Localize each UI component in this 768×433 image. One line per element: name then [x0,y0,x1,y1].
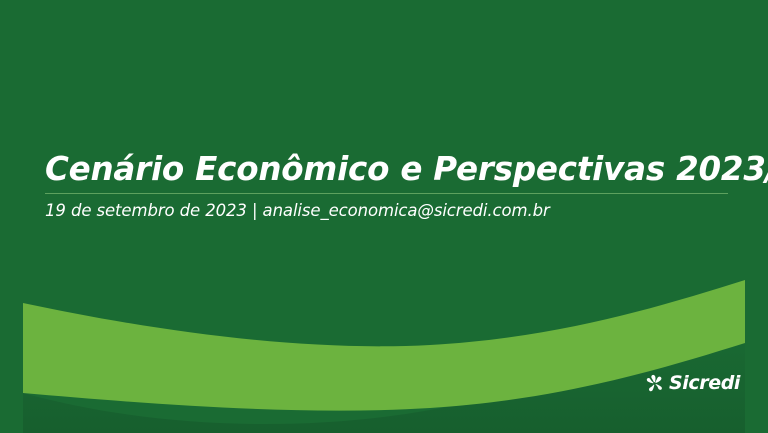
sicredi-logo: Sicredi [645,374,740,393]
title-slide: Cenário Econômico e Perspectivas 2023/24… [0,0,768,433]
wave-ribbon-shape [23,280,745,411]
page-title: Cenário Econômico e Perspectivas 2023/24 [45,152,735,186]
wave-shadow-shape [23,320,745,433]
page-subtitle: 19 de setembro de 2023 | analise_economi… [45,194,735,222]
sicredi-pinwheel-icon [645,374,664,393]
sicredi-wordmark: Sicredi [669,374,740,393]
title-block: Cenário Econômico e Perspectivas 2023/24… [45,152,735,222]
